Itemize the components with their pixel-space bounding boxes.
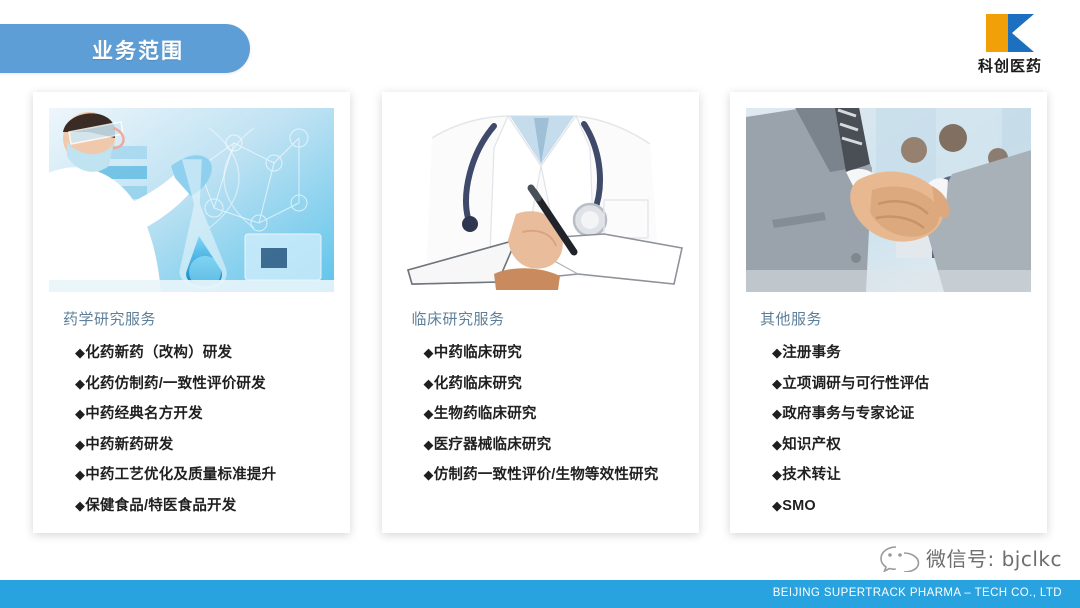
service-list: ◆注册事务 ◆立项调研与可行性评估 ◆政府事务与专家论证 ◆知识产权 ◆技术转让… xyxy=(772,343,1031,516)
list-item-label: 中药工艺优化及质量标准提升 xyxy=(85,467,276,483)
list-item: ◆注册事务 xyxy=(772,343,1031,363)
service-card[interactable]: 其他服务 ◆注册事务 ◆立项调研与可行性评估 ◆政府事务与专家论证 ◆知识产权 … xyxy=(730,92,1047,533)
diamond-bullet-icon: ◆ xyxy=(75,498,85,513)
diamond-bullet-icon: ◆ xyxy=(424,376,434,391)
company-name-en: BEIJING SUPERTRACK PHARMA – TECH CO., LT… xyxy=(773,587,1062,599)
diamond-bullet-icon: ◆ xyxy=(75,376,85,391)
list-item-label: 化药临床研究 xyxy=(434,376,522,392)
list-item-label: 中药经典名方开发 xyxy=(85,406,203,422)
list-item: ◆化药仿制药/一致性评价研发 xyxy=(75,374,334,394)
list-item-label: SMO xyxy=(782,498,816,514)
diamond-bullet-icon: ◆ xyxy=(75,437,85,452)
list-item: ◆医疗器械临床研究 xyxy=(424,435,683,455)
diamond-bullet-icon: ◆ xyxy=(772,437,782,452)
list-item: ◆立项调研与可行性评估 xyxy=(772,374,1031,394)
diamond-bullet-icon: ◆ xyxy=(772,406,782,421)
list-item-label: 中药新药研发 xyxy=(85,437,173,453)
list-item-label: 中药临床研究 xyxy=(434,345,522,361)
list-item: ◆仿制药一致性评价/生物等效性研究 xyxy=(424,465,683,485)
list-item-label: 化药仿制药/一致性评价研发 xyxy=(85,376,266,392)
diamond-bullet-icon: ◆ xyxy=(424,467,434,482)
list-item: ◆SMO xyxy=(772,496,1031,516)
diamond-bullet-icon: ◆ xyxy=(75,467,85,482)
diamond-bullet-icon: ◆ xyxy=(75,406,85,421)
list-item-label: 注册事务 xyxy=(782,345,841,361)
list-item-label: 政府事务与专家论证 xyxy=(782,406,914,422)
company-logo: 科创医药 xyxy=(962,10,1058,82)
list-item: ◆中药临床研究 xyxy=(424,343,683,363)
list-item-label: 化药新药（改构）研发 xyxy=(85,345,232,361)
list-item: ◆政府事务与专家论证 xyxy=(772,404,1031,424)
list-item: ◆保健食品/特医食品开发 xyxy=(75,496,334,516)
list-item: ◆知识产权 xyxy=(772,435,1031,455)
list-item-label: 仿制药一致性评价/生物等效性研究 xyxy=(434,467,659,483)
service-list: ◆化药新药（改构）研发 ◆化药仿制药/一致性评价研发 ◆中药经典名方开发 ◆中药… xyxy=(75,343,334,516)
list-item: ◆生物药临床研究 xyxy=(424,404,683,424)
logo-mark-icon xyxy=(982,10,1038,56)
diamond-bullet-icon: ◆ xyxy=(424,406,434,421)
lab-researcher-photo xyxy=(49,108,334,292)
list-item: ◆中药新药研发 xyxy=(75,435,334,455)
list-item-label: 保健食品/特医食品开发 xyxy=(85,498,236,514)
logo-wordmark: 科创医药 xyxy=(962,58,1058,75)
list-item-label: 生物药临床研究 xyxy=(434,406,537,422)
list-item-label: 技术转让 xyxy=(782,467,841,483)
card-heading: 临床研究服务 xyxy=(412,308,683,329)
diamond-bullet-icon: ◆ xyxy=(424,437,434,452)
list-item-label: 医疗器械临床研究 xyxy=(434,437,552,453)
card-heading: 其他服务 xyxy=(760,308,1031,329)
wechat-icon xyxy=(880,544,920,572)
footer-bar: BEIJING SUPERTRACK PHARMA – TECH CO., LT… xyxy=(0,580,1080,608)
diamond-bullet-icon: ◆ xyxy=(772,498,782,513)
list-item-label: 立项调研与可行性评估 xyxy=(782,376,929,392)
card-heading: 药学研究服务 xyxy=(63,308,334,329)
business-handshake-photo xyxy=(746,108,1031,292)
list-item-label: 知识产权 xyxy=(782,437,841,453)
list-item: ◆中药工艺优化及质量标准提升 xyxy=(75,465,334,485)
wechat-watermark: 微信号: bjclkc xyxy=(880,543,1062,572)
list-item: ◆化药新药（改构）研发 xyxy=(75,343,334,363)
service-list: ◆中药临床研究 ◆化药临床研究 ◆生物药临床研究 ◆医疗器械临床研究 ◆仿制药一… xyxy=(424,343,683,485)
diamond-bullet-icon: ◆ xyxy=(75,345,85,360)
list-item: ◆中药经典名方开发 xyxy=(75,404,334,424)
service-card[interactable]: 临床研究服务 ◆中药临床研究 ◆化药临床研究 ◆生物药临床研究 ◆医疗器械临床研… xyxy=(382,92,699,533)
page-title: 业务范围 xyxy=(92,35,184,65)
wechat-id-label: 微信号: bjclkc xyxy=(926,543,1062,572)
list-item: ◆化药临床研究 xyxy=(424,374,683,394)
diamond-bullet-icon: ◆ xyxy=(772,345,782,360)
diamond-bullet-icon: ◆ xyxy=(772,467,782,482)
doctor-writing-photo xyxy=(398,108,683,292)
diamond-bullet-icon: ◆ xyxy=(772,376,782,391)
slide-root: 业务范围 科创医药 xyxy=(0,0,1080,608)
list-item: ◆技术转让 xyxy=(772,465,1031,485)
service-card-row: 药学研究服务 ◆化药新药（改构）研发 ◆化药仿制药/一致性评价研发 ◆中药经典名… xyxy=(33,92,1047,533)
diamond-bullet-icon: ◆ xyxy=(424,345,434,360)
service-card[interactable]: 药学研究服务 ◆化药新药（改构）研发 ◆化药仿制药/一致性评价研发 ◆中药经典名… xyxy=(33,92,350,533)
